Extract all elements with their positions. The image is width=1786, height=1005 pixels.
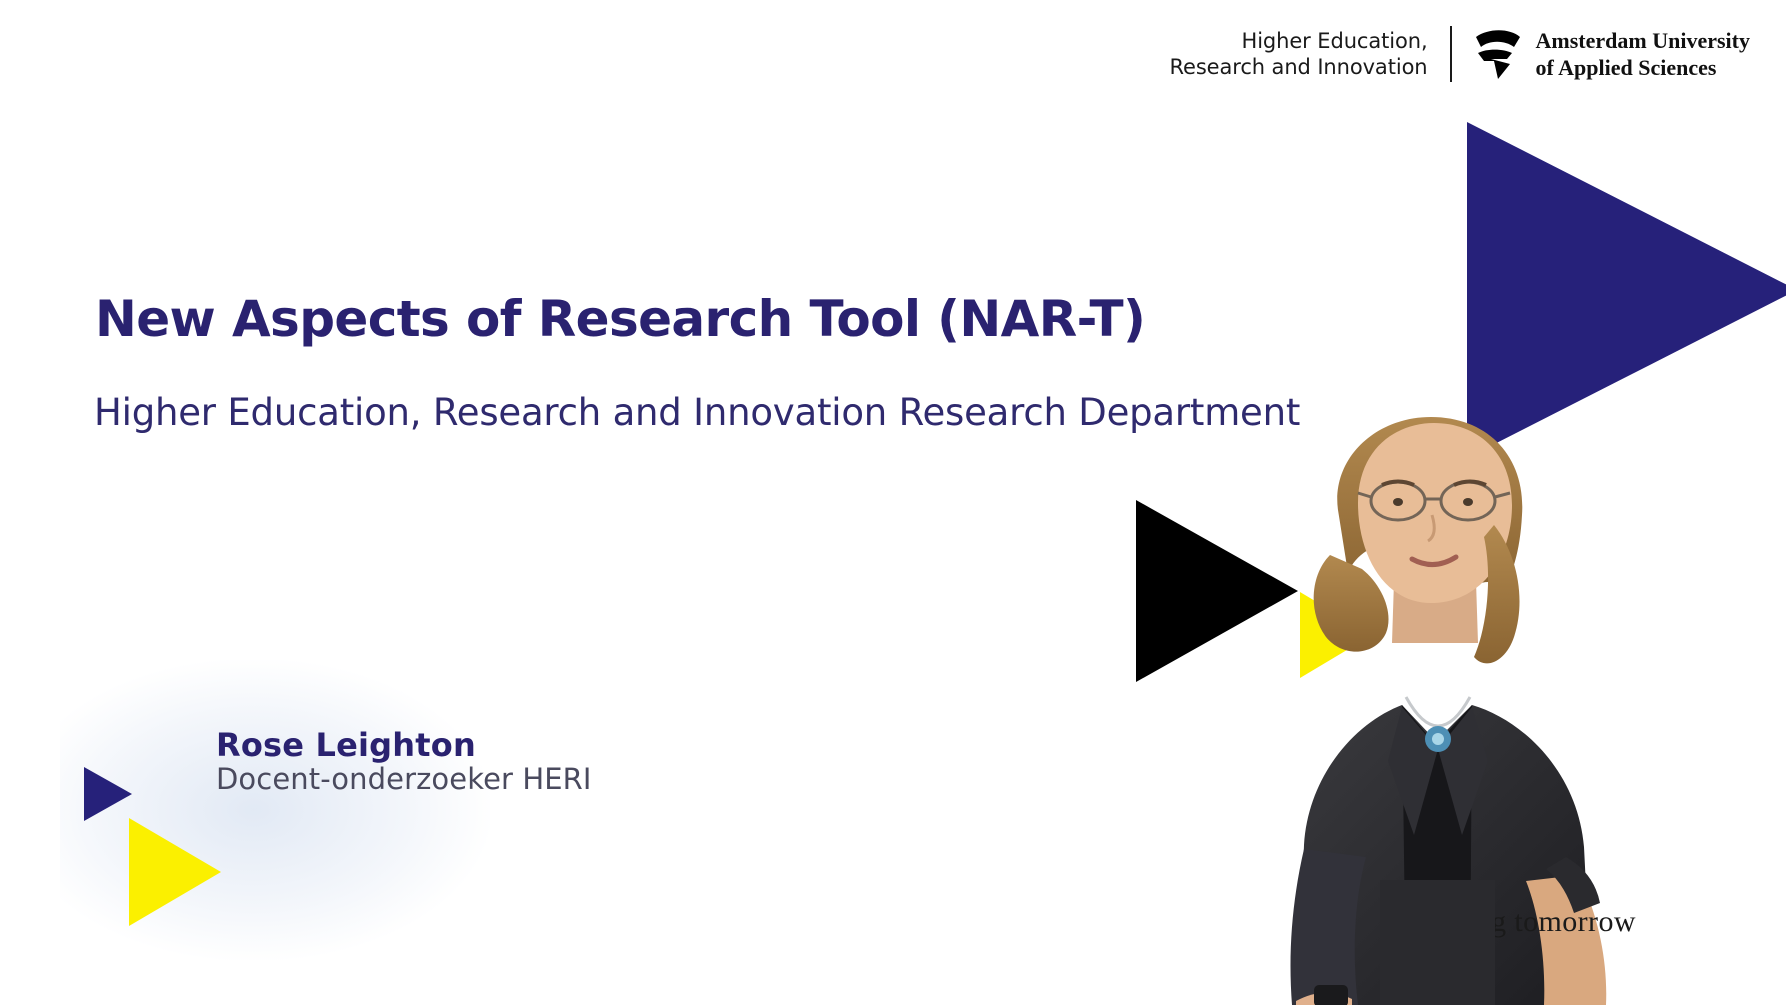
presenter-lower-third: Rose Leighton Docent-onderzoeker HERI — [216, 728, 736, 795]
triangle-yellow-mid-icon — [1300, 592, 1372, 678]
triangle-black-icon — [1136, 500, 1298, 682]
presenter-occlusion — [1380, 880, 1495, 1005]
institution-line-1: Amsterdam University — [1536, 27, 1750, 55]
logo-lockup: Higher Education, Research and Innovatio… — [1169, 26, 1750, 82]
slide-title: New Aspects of Research Tool (NAR-T) — [95, 292, 1145, 347]
triangle-navy-small-icon — [84, 767, 132, 821]
department-line-2: Research and Innovation — [1169, 54, 1427, 80]
institution-lockup: Amsterdam University of Applied Sciences — [1474, 27, 1750, 82]
institution-name: Amsterdam University of Applied Sciences — [1536, 27, 1750, 82]
triangle-navy-large-icon — [1467, 122, 1786, 458]
department-line-1: Higher Education, — [1169, 28, 1427, 54]
presenter-role: Docent-onderzoeker HERI — [216, 763, 736, 795]
presenter-name: Rose Leighton — [216, 728, 736, 763]
logo-divider — [1450, 26, 1452, 82]
auas-swoosh-logo-icon — [1474, 28, 1522, 80]
institution-line-2: of Applied Sciences — [1536, 54, 1750, 82]
presentation-slide: Creating tomorrow Higher Education, Rese… — [0, 0, 1786, 1005]
slide-subtitle: Higher Education, Research and Innovatio… — [94, 392, 1300, 435]
department-name: Higher Education, Research and Innovatio… — [1169, 28, 1427, 80]
triangle-yellow-small-icon — [129, 818, 221, 926]
